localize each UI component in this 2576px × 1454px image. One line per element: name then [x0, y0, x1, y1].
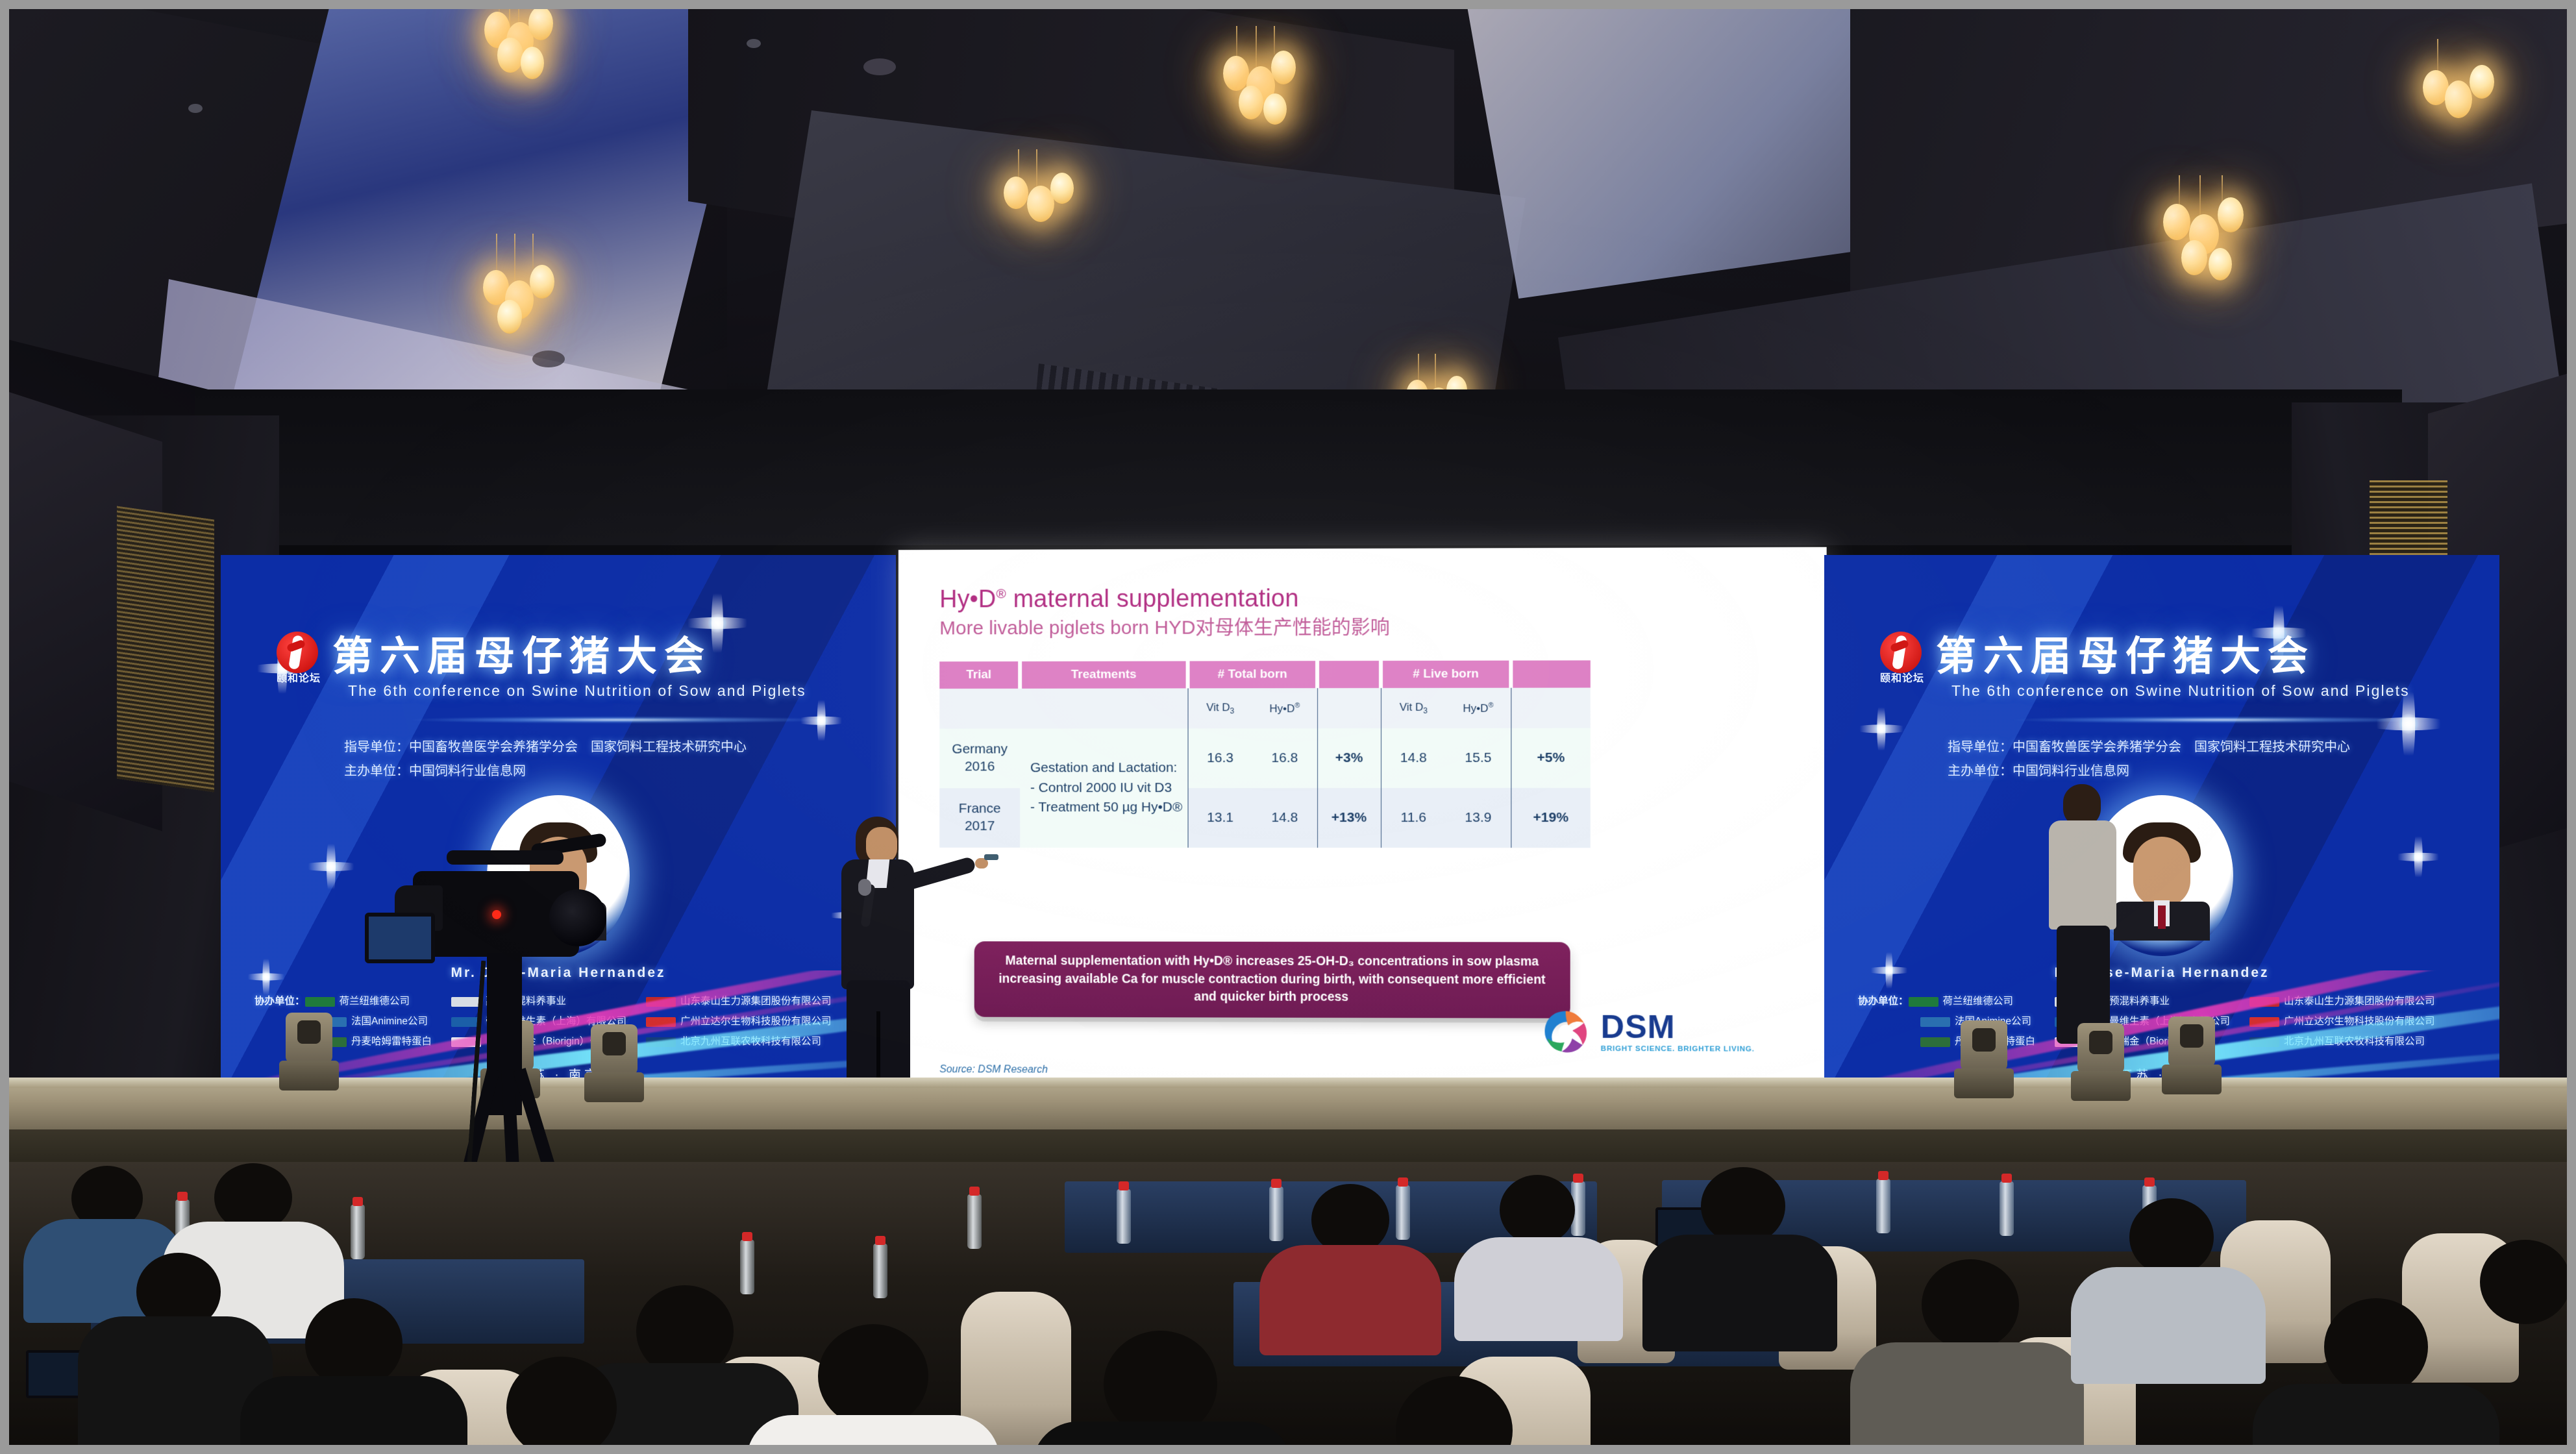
water-bottle	[1269, 1187, 1283, 1241]
camera-handle	[447, 850, 563, 865]
sponsor-logo-icon	[646, 1037, 676, 1047]
audience-member	[1701, 1167, 1785, 1245]
cell-live-vitd3: 11.6	[1381, 788, 1446, 848]
sponsor-logo-icon	[1909, 997, 1938, 1007]
conclusion-callout: Maternal supplementation with Hy•D® incr…	[974, 941, 1570, 1018]
col-header-live-born: # Live born	[1381, 661, 1511, 688]
sponsor-name: 广州立达尔生物科技股份有限公司	[680, 1016, 832, 1027]
back-wall	[195, 389, 2402, 545]
sponsor-logo-icon	[1920, 1037, 1950, 1047]
banner-organizers: 指导单位：中国畜牧兽医学会养猪学分会 国家饲料工程技术研究中心 主办单位：中国饲…	[344, 735, 747, 783]
col-header-live-delta	[1511, 660, 1591, 687]
camera-lens-icon	[549, 889, 606, 946]
dsm-logo: DSM BRIGHT SCIENCE. BRIGHTER LIVING.	[1539, 1006, 1754, 1059]
dsm-tagline: BRIGHT SCIENCE. BRIGHTER LIVING.	[1601, 1044, 1755, 1053]
guidance-label: 指导单位：	[344, 740, 409, 754]
col-header-total-delta	[1317, 661, 1381, 688]
stage-assistant	[2037, 784, 2167, 1044]
yihe-forum-logo-icon: 颐和论坛	[1876, 632, 1926, 682]
sponsor-logo-icon	[1920, 1017, 1950, 1027]
audience-member	[305, 1298, 402, 1389]
subheader-blank	[1511, 688, 1591, 728]
cell-total-hyd: 16.8	[1252, 728, 1317, 788]
ceiling-fan-icon	[532, 351, 565, 367]
water-bottle	[1876, 1179, 1890, 1233]
yihe-forum-logo-icon: 颐和论坛	[273, 632, 322, 682]
table-header-row: Trial Treatments # Total born # Live bor…	[939, 660, 1591, 689]
banner-title-en: The 6th conference on Swine Nutrition of…	[348, 682, 806, 700]
forum-logo-text: 颐和论坛	[273, 669, 325, 685]
audience-member	[1259, 1245, 1441, 1355]
host-org: 中国饲料行业信息网	[2012, 764, 2129, 778]
stage-moving-light	[1954, 1020, 2014, 1098]
sponsor-logo-icon	[305, 997, 335, 1007]
conference-photo-scene: 颐和论坛 第六届母仔猪大会 The 6th conference on Swin…	[0, 0, 2576, 1454]
guidance-label: 指导单位：	[1948, 740, 2012, 754]
forum-logo: 颐和论坛 第六届母仔猪大会	[1876, 632, 2315, 682]
water-bottle	[740, 1240, 754, 1294]
table-row: Germany 2016 Gestation and Lactation: - …	[939, 728, 1591, 789]
water-bottle	[967, 1194, 982, 1249]
treatment-line: Gestation and Lactation:	[1030, 759, 1187, 778]
host-org: 中国饲料行业信息网	[409, 764, 526, 778]
sponsors-label: 协办单位：	[1858, 996, 1909, 1007]
audience-member	[2129, 1198, 2214, 1276]
results-table: Trial Treatments # Total born # Live bor…	[939, 660, 1591, 848]
cell-total-hyd: 14.8	[1252, 788, 1317, 848]
banner-title-cn: 第六届母仔猪大会	[1936, 637, 2315, 677]
audience-member	[1642, 1235, 1837, 1351]
col-header-treatments: Treatments	[1020, 661, 1187, 689]
table-subheader-row: Vit D3 Hy•D® Vit D3 Hy•D®	[939, 688, 1591, 729]
banner-title-cn: 第六届母仔猪大会	[332, 637, 712, 677]
cell-treatments: Gestation and Lactation: - Control 2000 …	[1020, 728, 1187, 848]
audience-member	[1500, 1175, 1575, 1245]
sponsor-name: 北京九州互联农牧科技有限公司	[680, 1036, 821, 1047]
banner-organizers: 指导单位：中国畜牧兽医学会养猪学分会 国家饲料工程技术研究中心 主办单位：中国饲…	[1948, 735, 2350, 783]
sponsor-logo-icon	[646, 997, 676, 1007]
security-camera-icon	[863, 58, 896, 75]
registered-mark-icon: ®	[996, 587, 1006, 602]
presentation-slide: Hy•D® maternal supplementation More liva…	[898, 547, 1827, 1095]
subheader-total-vitd3: Vit D3	[1188, 688, 1253, 728]
subheader-blank	[1020, 688, 1187, 728]
sponsor-logo-icon	[646, 1017, 676, 1027]
forum-logo-text: 颐和论坛	[1876, 669, 1928, 685]
sponsor-name: 广州立达尔生物科技股份有限公司	[2284, 1016, 2435, 1027]
sponsor-name: 荷兰纽维德公司	[1943, 996, 2014, 1007]
cell-live-hyd: 15.5	[1446, 728, 1511, 788]
cell-live-delta: +5%	[1511, 728, 1591, 788]
audience-member	[1922, 1259, 2019, 1350]
cell-live-vitd3: 14.8	[1381, 728, 1446, 788]
subheader-total-hyd: Hy•D®	[1252, 688, 1317, 728]
slide-title-product: Hy•D	[939, 586, 996, 613]
ceiling-downlight-icon	[747, 39, 761, 48]
slide-title-rest: maternal supplementation	[1006, 585, 1299, 613]
stage-moving-light	[2162, 1017, 2222, 1094]
cell-total-vitd3: 16.3	[1188, 728, 1253, 788]
sponsor-name: 山东泰山生力源集团股份有限公司	[2284, 996, 2435, 1007]
host-label: 主办单位：	[344, 764, 409, 778]
audience-member	[1032, 1422, 1292, 1454]
cell-total-vitd3: 13.1	[1188, 788, 1253, 848]
water-bottle	[1117, 1189, 1131, 1244]
dsm-mark-icon	[1539, 1006, 1591, 1058]
stage-moving-light	[2071, 1023, 2131, 1101]
audience-area	[0, 1162, 2576, 1454]
slide-title: Hy•D® maternal supplementation	[939, 584, 1785, 613]
audience-member	[2324, 1298, 2428, 1396]
cell-total-delta: +13%	[1317, 788, 1381, 848]
sponsor-name: 北京九州互联农牧科技有限公司	[2284, 1036, 2425, 1047]
ceiling-downlight-icon	[188, 104, 203, 113]
cell-live-delta: +19%	[1511, 788, 1591, 848]
sponsor-logo-icon	[2249, 1037, 2279, 1047]
subheader-blank	[1317, 688, 1381, 728]
col-header-total-born: # Total born	[1188, 661, 1317, 688]
audience-member	[240, 1376, 467, 1454]
guidance-orgs: 中国畜牧兽医学会养猪学分会 国家饲料工程技术研究中心	[2012, 740, 2350, 754]
audience-member	[1850, 1342, 2084, 1454]
water-bottle	[351, 1205, 365, 1259]
treatment-line: - Control 2000 IU vit D3	[1030, 778, 1187, 798]
subheader-live-vitd3: Vit D3	[1381, 688, 1446, 728]
cell-trial-germany: Germany 2016	[939, 729, 1020, 789]
forum-logo: 颐和论坛 第六届母仔猪大会	[273, 632, 712, 682]
subheader-blank	[939, 689, 1020, 729]
sponsor-logo-icon	[2249, 997, 2279, 1007]
cell-live-hyd: 13.9	[1446, 788, 1511, 848]
subheader-live-hyd: Hy•D®	[1446, 688, 1511, 728]
recording-indicator-icon	[492, 910, 501, 919]
cell-total-delta: +3%	[1317, 728, 1381, 788]
dsm-wordmark: DSM	[1601, 1011, 1755, 1042]
audience-member	[1454, 1237, 1623, 1341]
audience-member	[818, 1324, 928, 1428]
sponsor-logo-icon	[2249, 1017, 2279, 1027]
audience-member	[2071, 1267, 2266, 1384]
trial-country: France	[939, 800, 1020, 818]
wall-slat-panel	[117, 506, 214, 792]
water-bottle	[1396, 1185, 1410, 1240]
slide-subtitle: More livable piglets born HYD对母体生产性能的影响	[939, 615, 1785, 639]
presenter-on-stage	[817, 817, 966, 1096]
sponsors-label: 协办单位：	[254, 996, 305, 1007]
banner-title-en: The 6th conference on Swine Nutrition of…	[1951, 682, 2410, 700]
audience-member	[2480, 1240, 2571, 1324]
trial-country: Germany	[939, 741, 1020, 759]
water-bottle	[2000, 1181, 2014, 1236]
treatment-line: - Treatment 50 µg Hy•D®	[1030, 798, 1187, 817]
guidance-orgs: 中国畜牧兽医学会养猪学分会 国家饲料工程技术研究中心	[409, 740, 747, 754]
water-bottle	[873, 1244, 887, 1298]
audience-member	[506, 1357, 617, 1454]
audience-member	[2253, 1384, 2499, 1454]
audience-member	[747, 1415, 1000, 1454]
col-header-trial: Trial	[939, 661, 1020, 689]
sponsor-name: 山东泰山生力源集团股份有限公司	[680, 996, 832, 1007]
camera-lcd-screen	[365, 913, 435, 963]
trial-year: 2016	[939, 758, 1020, 776]
stage-moving-light	[279, 1013, 339, 1090]
host-label: 主办单位：	[1948, 764, 2012, 778]
